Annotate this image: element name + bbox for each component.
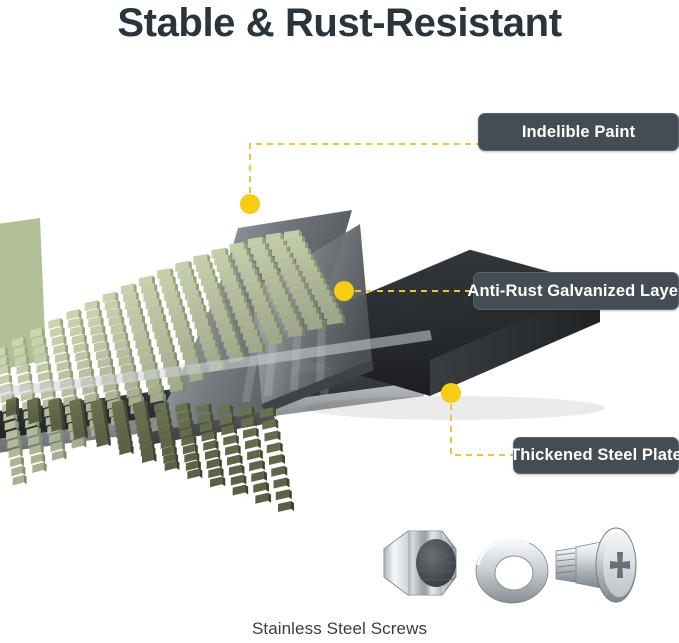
page-title: Stable & Rust-Resistant bbox=[0, 0, 679, 46]
callout-thickened-steel-plate: Thickened Steel Plate bbox=[513, 437, 679, 474]
hardware-group bbox=[370, 515, 660, 615]
callout-indelible-paint: Indelible Paint bbox=[478, 113, 679, 151]
callout-anti-rust-galvanized-layer: Anti-Rust Galvanized Layer bbox=[473, 272, 679, 310]
hardware-caption: Stainless Steel Screws bbox=[0, 619, 679, 639]
flat-washer-icon bbox=[476, 538, 548, 603]
phillips-head-bolt-icon bbox=[556, 528, 636, 602]
hex-cap-nut-icon bbox=[384, 531, 456, 595]
infographic-root: Stable & Rust-Resistant bbox=[0, 0, 679, 643]
leader-dot-indelible-paint bbox=[240, 194, 260, 214]
hardware-svg bbox=[370, 515, 660, 615]
leader-dot-anti-rust-galvanized-layer bbox=[334, 281, 354, 301]
leader-dot-thickened-steel-plate bbox=[441, 383, 461, 403]
